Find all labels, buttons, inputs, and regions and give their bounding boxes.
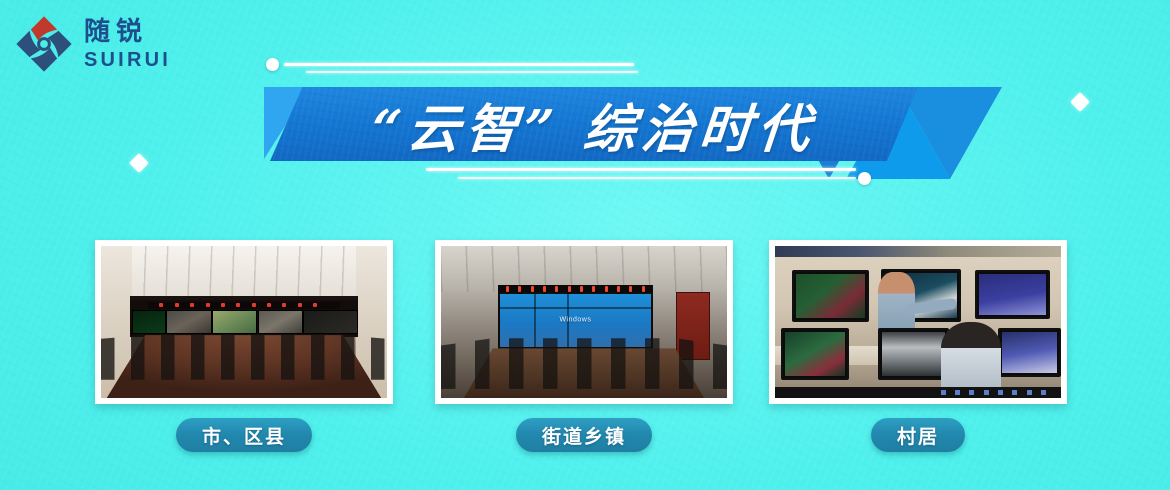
conference-room-video-wall-photo (101, 246, 387, 398)
deco-diamond-right (1070, 92, 1090, 112)
card-street-township[interactable]: Windows 街道乡镇 (434, 240, 734, 452)
deco-line-bottom-1 (426, 168, 856, 171)
suirui-pinwheel-logo-icon (14, 14, 74, 74)
deco-line-bottom-2 (458, 177, 856, 179)
card-label-pill[interactable]: 村居 (871, 418, 965, 452)
officer-monitoring-station-photo (775, 246, 1061, 398)
deco-line-top-2 (306, 71, 638, 73)
deco-line-top-1 (284, 63, 634, 66)
card-village[interactable]: 村居 (768, 240, 1068, 452)
card-label-text: 市、区县 (202, 422, 286, 449)
card-label-pill[interactable]: 街道乡镇 (516, 418, 652, 452)
photo-frame (769, 240, 1067, 404)
title-banner: “云智” 综治时代 (258, 58, 958, 190)
brand-name-en: SUIRUI (84, 50, 171, 70)
brand-name-cn: 随锐 (84, 19, 171, 45)
page-title-text: “云智” 综治时代 (369, 87, 819, 162)
deco-dot-top-left (266, 58, 279, 71)
page-title: “云智” 综治时代 (270, 87, 918, 161)
photo-frame (95, 240, 393, 404)
card-label-text: 街道乡镇 (542, 422, 626, 449)
brand-logo: 随锐 SUIRUI (14, 10, 234, 78)
deco-dot-bottom-right (858, 172, 871, 185)
card-label-text: 村居 (897, 422, 939, 449)
card-row: 市、区县 Windows 街道乡镇 (0, 240, 1170, 490)
slide-root: 随锐 SUIRUI “云智” 综治时代 (0, 0, 1170, 490)
photo-frame: Windows (435, 240, 733, 404)
meeting-room-blue-screen-photo: Windows (441, 246, 727, 398)
card-label-pill[interactable]: 市、区县 (176, 418, 312, 452)
card-city-district[interactable]: 市、区县 (94, 240, 394, 452)
deco-diamond-left (129, 153, 149, 173)
